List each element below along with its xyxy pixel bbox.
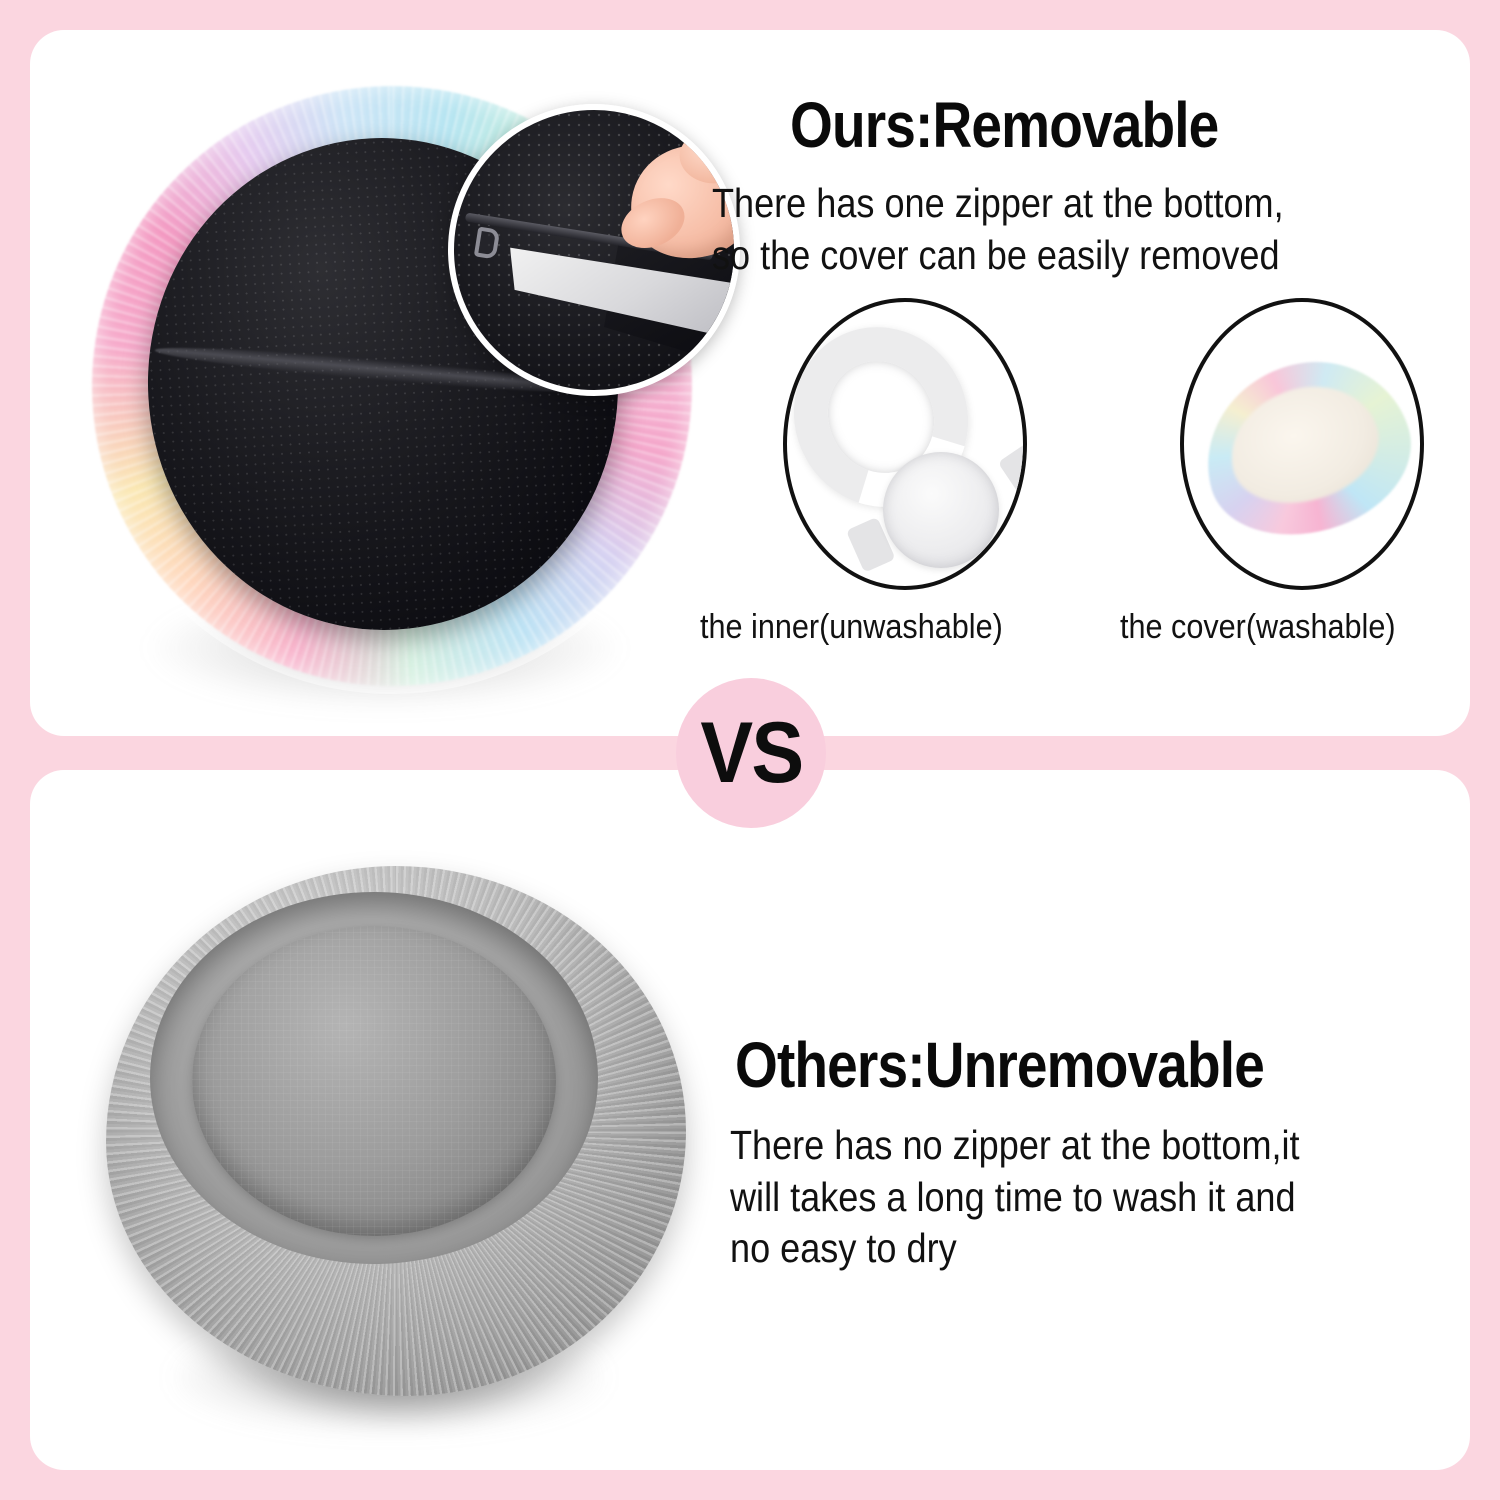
ours-headline: Ours:Removable [790,92,1218,159]
gray-sewn-in-cushion [192,926,556,1236]
ours-body-text: There has one zipper at the bottom, so t… [712,178,1284,281]
rainbow-cover-flat [1185,339,1424,557]
others-headline: Others:Unremovable [735,1032,1264,1099]
zipper-pull-icon [474,226,500,259]
vs-label: VS [700,710,802,796]
caption-cover: the cover(washable) [1120,608,1396,647]
caption-inner: the inner(unwashable) [700,608,1003,647]
ours-product-photo [70,68,710,728]
round-cushion-pad [883,452,999,568]
vs-badge: VS [676,678,826,828]
others-body-text: There has no zipper at the bottom,it wil… [730,1120,1300,1275]
inset-removable-cover [1180,298,1424,590]
zipper-callout-circle [448,104,740,396]
others-product-photo [88,852,718,1442]
inset-inner-insert [783,298,1027,590]
